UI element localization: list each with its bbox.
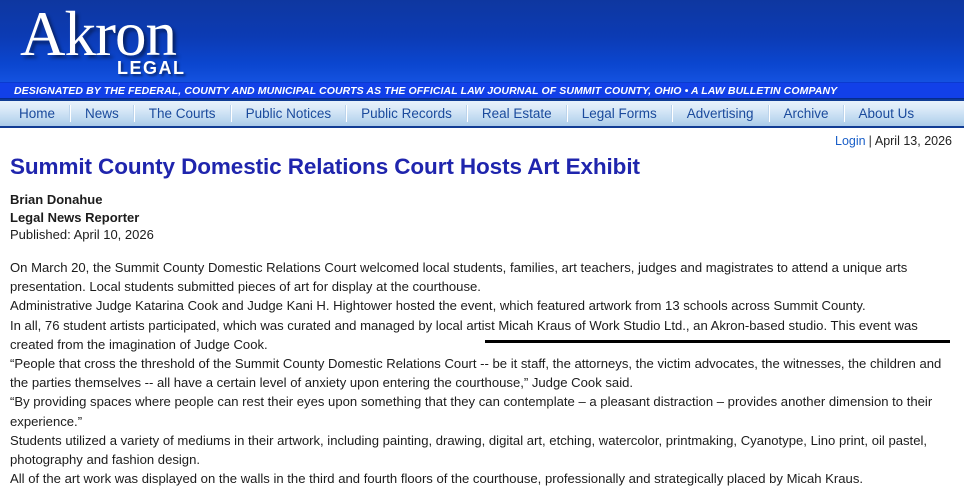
logo-wordmark-legal-news: LEGAL NEWS: [117, 58, 242, 82]
nav-item-about-us[interactable]: About Us: [844, 101, 930, 126]
article-paragraph: “By providing spaces where people can re…: [10, 392, 954, 430]
nav-item-public-records[interactable]: Public Records: [346, 101, 467, 126]
site-masthead: Akron LEGAL NEWS: [0, 0, 964, 82]
article-paragraph: On March 20, the Summit County Domestic …: [10, 258, 954, 296]
nav-item-advertising[interactable]: Advertising: [672, 101, 769, 126]
article-body: On March 20, the Summit County Domestic …: [10, 244, 954, 488]
nav-item-public-notices[interactable]: Public Notices: [231, 101, 347, 126]
headline-divider: [485, 340, 950, 343]
utility-bar: Login | April 13, 2026: [0, 128, 964, 150]
nav-item-legal-forms[interactable]: Legal Forms: [567, 101, 672, 126]
current-date: April 13, 2026: [875, 134, 952, 148]
article-paragraph: All of the art work was displayed on the…: [10, 469, 954, 488]
article-headline: Summit County Domestic Relations Court H…: [10, 150, 954, 180]
article-paragraph: Students utilized a variety of mediums i…: [10, 431, 954, 469]
nav-item-archive[interactable]: Archive: [769, 101, 844, 126]
byline-author: Brian Donahue: [10, 191, 954, 209]
tagline-bar: DESIGNATED BY THE FEDERAL, COUNTY AND MU…: [0, 82, 964, 99]
meta-separator: |: [866, 134, 875, 148]
article-paragraph: “People that cross the threshold of the …: [10, 354, 954, 392]
nav-item-real-estate[interactable]: Real Estate: [467, 101, 567, 126]
article-paragraph: Administrative Judge Katarina Cook and J…: [10, 296, 954, 315]
article-byline: Brian Donahue Legal News Reporter Publis…: [10, 180, 954, 244]
byline-author-title: Legal News Reporter: [10, 209, 954, 227]
article-published-date: Published: April 10, 2026: [10, 226, 954, 244]
nav-item-home[interactable]: Home: [4, 101, 70, 126]
nav-item-news[interactable]: News: [70, 101, 134, 126]
login-link[interactable]: Login: [835, 134, 866, 148]
nav-item-the-courts[interactable]: The Courts: [134, 101, 231, 126]
site-logo[interactable]: Akron LEGAL NEWS: [12, 0, 242, 82]
article-paragraph: In all, 76 student artists participated,…: [10, 316, 954, 354]
article-container: Summit County Domestic Relations Court H…: [0, 150, 964, 488]
tagline-text: DESIGNATED BY THE FEDERAL, COUNTY AND MU…: [0, 85, 837, 97]
primary-navigation: Home News The Courts Public Notices Publ…: [0, 99, 964, 128]
